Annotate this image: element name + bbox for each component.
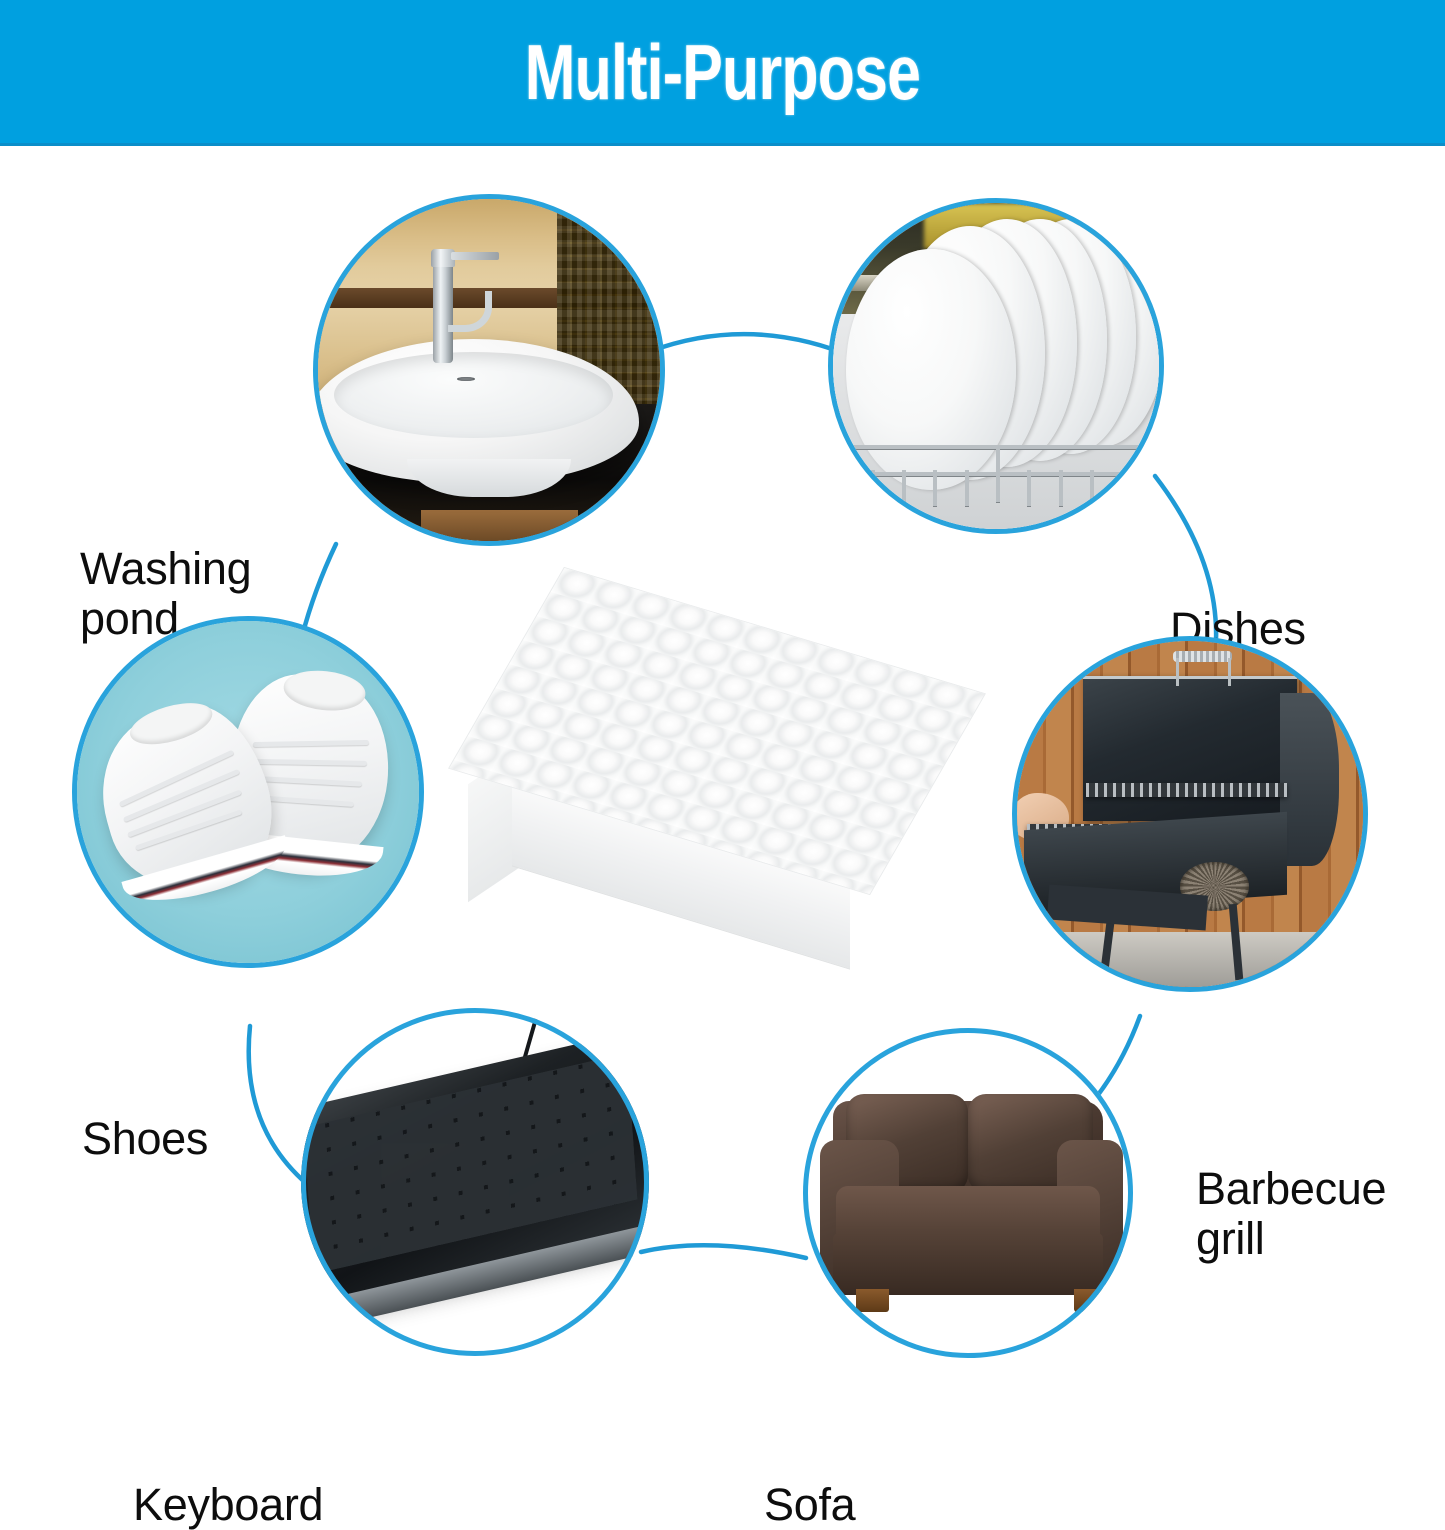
use-circle-dishes[interactable] <box>828 198 1164 534</box>
use-label-keyboard: Keyboard <box>133 1480 323 1530</box>
dish-rack-wires <box>840 412 1153 510</box>
use-label-shoes: Shoes <box>82 1114 208 1164</box>
barbecue-grill-photo <box>1017 641 1363 987</box>
use-circle-barbecue-grill[interactable] <box>1012 636 1368 992</box>
leather-sofa-photo <box>803 1028 1133 1358</box>
header-banner: Multi-Purpose <box>0 0 1445 143</box>
product-sponge <box>452 594 922 994</box>
diagram-stage: Washing pond <box>0 146 1445 1400</box>
use-circle-shoes[interactable] <box>72 616 424 968</box>
use-circle-keyboard[interactable] <box>301 1008 649 1356</box>
sneakers-photo <box>77 621 419 963</box>
dish-rack-photo <box>833 203 1159 529</box>
keyboard-photo <box>301 1008 649 1356</box>
bathroom-sink-photo <box>318 199 660 541</box>
use-circle-washing-pond[interactable] <box>313 194 665 546</box>
use-label-sofa: Sofa <box>764 1480 855 1530</box>
page-title: Multi-Purpose <box>525 33 920 111</box>
use-label-barbecue-grill: Barbecue grill <box>1196 1164 1386 1265</box>
use-circle-sofa[interactable] <box>803 1028 1133 1358</box>
